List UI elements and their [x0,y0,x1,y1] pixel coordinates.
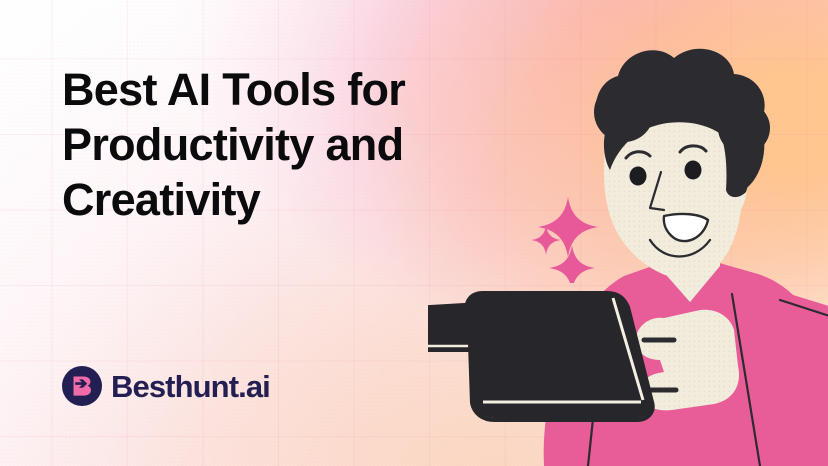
brand-logo[interactable]: Besthunt.ai [62,366,270,406]
banner-canvas: Best AI Tools for Productivity and Creat… [0,0,828,466]
brand-name: Besthunt.ai [111,371,270,402]
besthunt-b-arrow-icon [62,366,102,406]
page-title: Best AI Tools for Productivity and Creat… [62,62,492,227]
